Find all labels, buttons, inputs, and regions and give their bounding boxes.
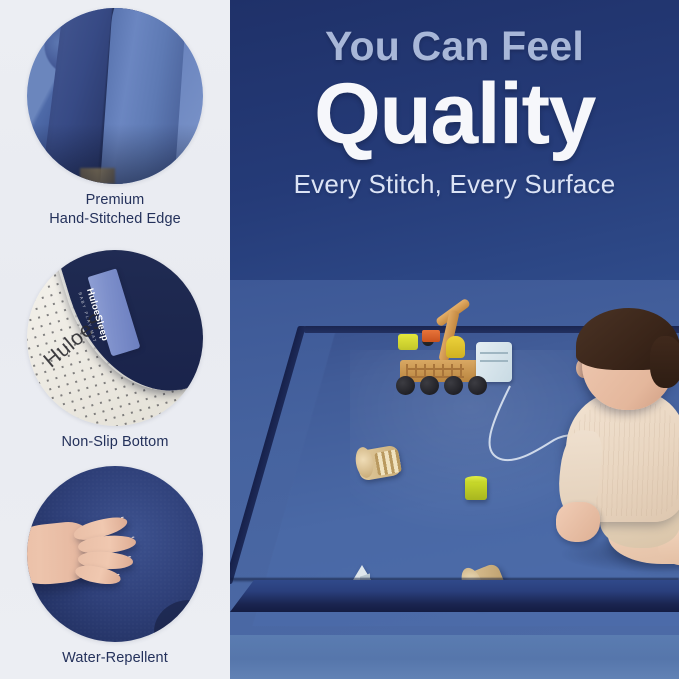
fabric-edge-closeup-photo: [27, 8, 203, 184]
feature-sidebar: Premium Hand-Stitched Edge HuloeSl Huloe…: [0, 0, 230, 679]
feature-label: Water-Repellent: [0, 649, 230, 668]
headline-line1: You Can Feel: [230, 26, 679, 67]
feature-label-line1: Water-Repellent: [62, 650, 168, 666]
headline-line2: Quality: [230, 71, 679, 157]
feature-label-line1: Premium: [86, 192, 145, 208]
feature-label: Premium Hand-Stitched Edge: [0, 191, 230, 229]
floor: [230, 635, 679, 679]
hero-subtitle: Every Stitch, Every Surface: [230, 171, 679, 197]
feature-label-line2: Hand-Stitched Edge: [49, 211, 181, 227]
feature-item-water-repellent: Water-Repellent: [0, 466, 230, 668]
product-feature-banner: Premium Hand-Stitched Edge HuloeSl Huloe…: [0, 0, 679, 679]
hand-on-mat-photo: [27, 466, 203, 642]
feature-item-premium-hand-stitched-edge: Premium Hand-Stitched Edge: [0, 8, 230, 229]
baby-hand: [556, 502, 600, 542]
feature-label: Non-Slip Bottom: [0, 433, 230, 452]
feature-item-non-slip-bottom: HuloeSl HuloeSleep BABY PLAY MAT Non-Sli…: [0, 250, 230, 452]
baby-on-play-mat-photo: [230, 280, 679, 679]
mat-thick-edge: [230, 580, 679, 612]
headline-block: You Can Feel Quality Every Stitch, Every…: [230, 0, 679, 197]
non-slip-bottom-photo: HuloeSl HuloeSleep BABY PLAY MAT: [27, 250, 203, 426]
hero-panel: You Can Feel Quality Every Stitch, Every…: [230, 0, 679, 679]
feature-label-line1: Non-Slip Bottom: [61, 434, 168, 450]
